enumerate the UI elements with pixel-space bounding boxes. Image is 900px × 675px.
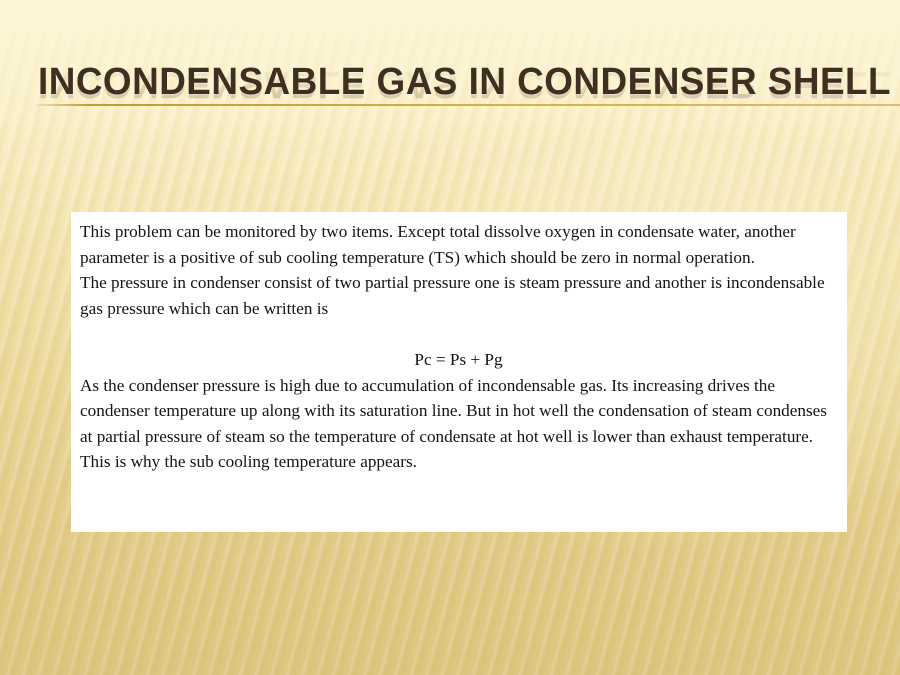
- body-text-container: This problem can be monitored by two ite…: [80, 219, 837, 475]
- presentation-slide: INCONDENSABLE GAS IN CONDENSER SHELL INC…: [0, 0, 900, 675]
- title-underline-rule: [36, 104, 900, 106]
- page-title: INCONDENSABLE GAS IN CONDENSER SHELL: [38, 60, 891, 104]
- content-text-card: This problem can be monitored by two ite…: [71, 212, 847, 532]
- body-paragraph-1: This problem can be monitored by two ite…: [80, 219, 837, 270]
- body-paragraph-3: As the condenser pressure is high due to…: [80, 373, 837, 475]
- slide-title-block: INCONDENSABLE GAS IN CONDENSER SHELL INC…: [0, 60, 900, 150]
- formula-equation: Pc = Ps + Pg: [80, 347, 837, 373]
- body-paragraph-2: The pressure in condenser consist of two…: [80, 270, 837, 321]
- paragraph-spacer: [80, 321, 837, 347]
